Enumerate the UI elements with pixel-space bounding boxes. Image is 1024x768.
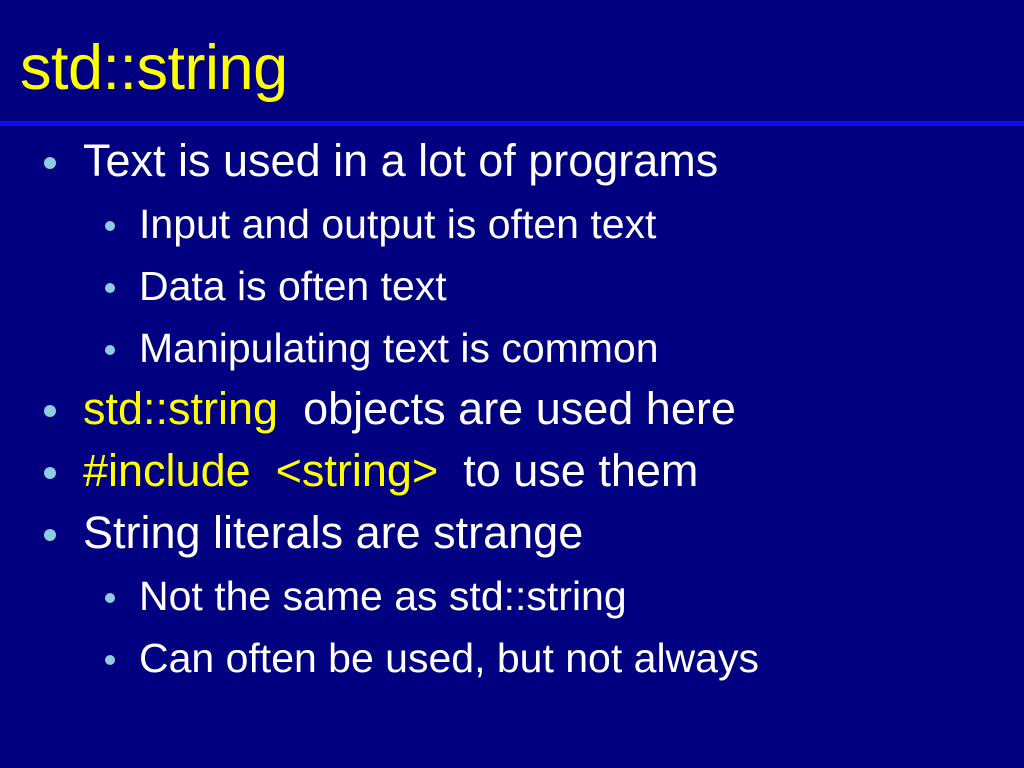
bullet-item-label: std::string objects are used here [83, 381, 736, 437]
slide-body-bullet-list: Text is used in a lot of programsInput a… [0, 133, 1024, 691]
bullet-item-label: Not the same as std::string [139, 569, 627, 623]
text-run: to use them [438, 445, 698, 496]
bullet-item-label: Can often be used, but not always [139, 631, 759, 685]
bullet-item-level-2: Can often be used, but not always [0, 629, 1024, 691]
text-run: Not the same as std::string [139, 573, 627, 619]
disc-bullet-icon [105, 593, 115, 603]
disc-bullet-icon [44, 529, 56, 541]
slide-title-block: std::string [0, 0, 1024, 126]
bullet-item-level-1: #include <string> to use them [0, 443, 1024, 505]
disc-bullet-icon [44, 157, 56, 169]
bullet-item-label: Data is often text [139, 259, 447, 313]
bullet-item-label: String literals are strange [83, 505, 583, 561]
text-run: Can often be used, but not always [139, 635, 759, 681]
bullet-item-level-2: Not the same as std::string [0, 567, 1024, 629]
bullet-item-label: Input and output is often text [139, 197, 656, 251]
disc-bullet-icon [105, 655, 115, 665]
text-run: Input and output is often text [139, 201, 656, 247]
bullet-item-level-1: std::string objects are used here [0, 381, 1024, 443]
text-run: String literals are strange [83, 507, 583, 558]
title-divider [0, 121, 1024, 126]
bullet-item-label: #include <string> to use them [83, 443, 698, 499]
bullet-item-level-1: Text is used in a lot of programs [0, 133, 1024, 195]
bullet-item-label: Manipulating text is common [139, 321, 659, 375]
bullet-item-level-2: Input and output is often text [0, 195, 1024, 257]
text-run: Manipulating text is common [139, 325, 659, 371]
code-token: #include <string> [83, 445, 438, 496]
bullet-item-level-1: String literals are strange [0, 505, 1024, 567]
disc-bullet-icon [44, 405, 56, 417]
disc-bullet-icon [105, 221, 115, 231]
text-run: Data is often text [139, 263, 447, 309]
bullet-item-level-2: Manipulating text is common [0, 319, 1024, 381]
presentation-slide: std::string Text is used in a lot of pro… [0, 0, 1024, 768]
disc-bullet-icon [105, 283, 115, 293]
disc-bullet-icon [105, 345, 115, 355]
text-run: objects are used here [278, 383, 736, 434]
page-title: std::string [20, 33, 288, 103]
bullet-item-level-2: Data is often text [0, 257, 1024, 319]
text-run: Text is used in a lot of programs [83, 135, 718, 186]
code-token: std::string [83, 383, 278, 434]
bullet-item-label: Text is used in a lot of programs [83, 133, 718, 189]
disc-bullet-icon [44, 467, 56, 479]
